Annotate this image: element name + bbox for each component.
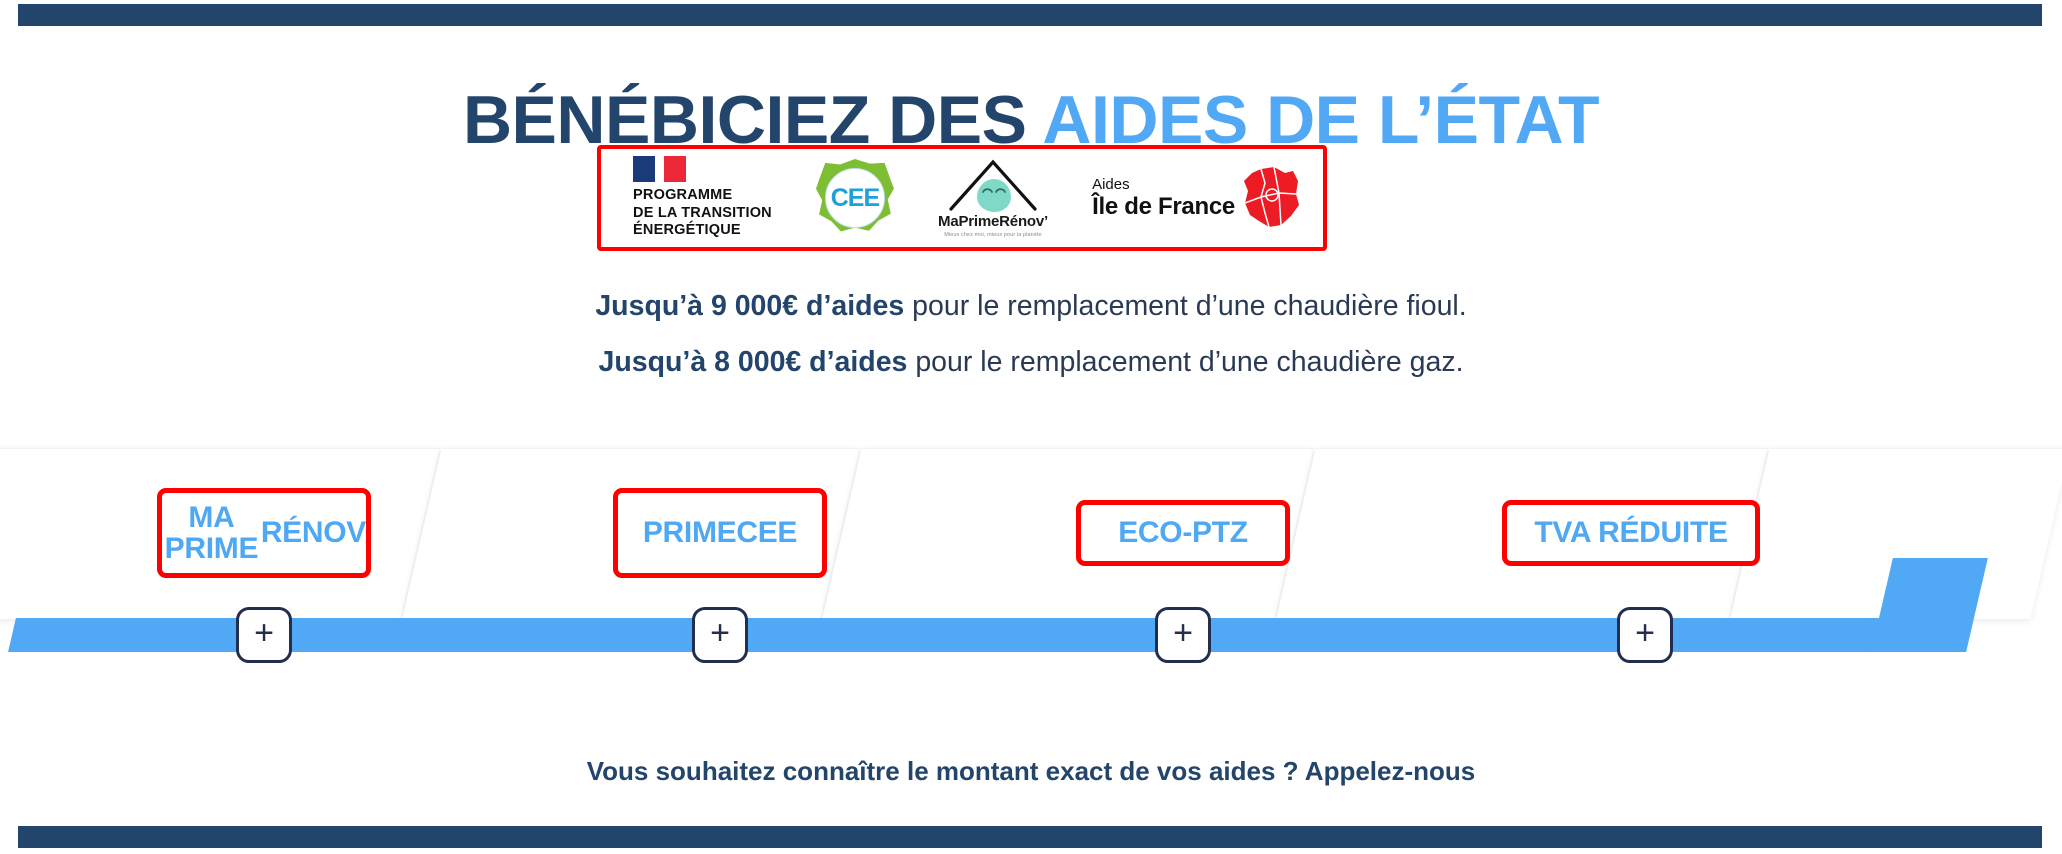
french-flag-icon (633, 156, 686, 182)
bottom-navy-rule (18, 826, 2042, 848)
expand-button-eco-ptz[interactable]: + (1155, 607, 1211, 663)
aid-chip-4-line1: TVA RÉDUITE (1534, 517, 1727, 549)
logo-maprimerenov-tagline: Mieux chez moi, mieux pour la planète (944, 232, 1042, 238)
ile-de-france-map-icon (1241, 167, 1301, 229)
logo-programme-transition-energetique: PROGRAMME DE LA TRANSITION ÉNERGÉTIQUE (623, 156, 772, 240)
aid-amounts: Jusqu’à 9 000€ d’aides pour le remplacem… (0, 278, 2062, 390)
aids-ribbon: MA PRIME RÉNOV PRIME CEE ECO-PTZ TVA RÉD… (0, 440, 2062, 670)
logo-programme-text: PROGRAMME DE LA TRANSITION ÉNERGÉTIQUE (633, 187, 772, 240)
logo-idf-big-label: Île de France (1092, 194, 1235, 219)
contact-callout: Vous souhaitez connaître le montant exac… (0, 756, 2062, 787)
maprimerenov-house-icon (947, 159, 1039, 211)
logo-programme-line2: DE LA TRANSITION (633, 205, 772, 223)
logo-aides-ile-de-france: Aides Île de France (1092, 167, 1301, 229)
aid-amount-line-2: Jusqu’à 8 000€ d’aides pour le remplacem… (0, 334, 2062, 390)
logo-maprimerenov-name: MaPrimeRénov’ (938, 213, 1048, 230)
aid-chip-tva-reduite[interactable]: TVA RÉDUITE (1502, 500, 1760, 566)
expand-button-ma-prime-renov[interactable]: + (236, 607, 292, 663)
partner-logo-strip: PROGRAMME DE LA TRANSITION ÉNERGÉTIQUE C… (597, 145, 1327, 251)
aid-amount-1-rest: pour le remplacement d’une chaudière fio… (904, 290, 1466, 322)
aid-chip-ma-prime-renov[interactable]: MA PRIME RÉNOV (157, 488, 371, 578)
expand-button-prime-cee[interactable]: + (692, 607, 748, 663)
aid-amount-1-bold: Jusqu’à 9 000€ d’aides (595, 290, 904, 322)
logo-programme-line1: PROGRAMME (633, 187, 772, 205)
logo-cee-label: CEE (831, 184, 879, 213)
logo-cee: CEE (816, 159, 894, 237)
aid-amount-line-1: Jusqu’à 9 000€ d’aides pour le remplacem… (0, 278, 2062, 334)
top-navy-rule (18, 4, 2042, 26)
aid-chip-2-line2: CEE (736, 517, 797, 549)
expand-button-tva-reduite[interactable]: + (1617, 607, 1673, 663)
aid-chip-2-line1: PRIME (643, 517, 737, 549)
aid-chip-3-line1: ECO-PTZ (1118, 517, 1248, 549)
aid-chip-1-line2: RÉNOV (261, 517, 366, 549)
logo-maprimerenov: MaPrimeRénov’ Mieux chez moi, mieux pour… (938, 159, 1048, 238)
aid-amount-2-rest: pour le remplacement d’une chaudière gaz… (907, 346, 1463, 378)
logo-programme-line3: ÉNERGÉTIQUE (633, 222, 772, 240)
ribbon-blue-arrow-tip (1871, 558, 1988, 652)
logo-idf-small-label: Aides (1092, 177, 1235, 194)
cee-badge-icon: CEE (816, 159, 894, 237)
aid-chip-prime-cee[interactable]: PRIME CEE (613, 488, 827, 578)
aid-chip-eco-ptz[interactable]: ECO-PTZ (1076, 500, 1290, 566)
aid-chip-1-line1: MA PRIME (162, 502, 261, 565)
aid-amount-2-bold: Jusqu’à 8 000€ d’aides (598, 346, 907, 378)
page-title: BÉNÉBICIEZ DES AIDES DE L’ÉTAT (0, 86, 2062, 154)
